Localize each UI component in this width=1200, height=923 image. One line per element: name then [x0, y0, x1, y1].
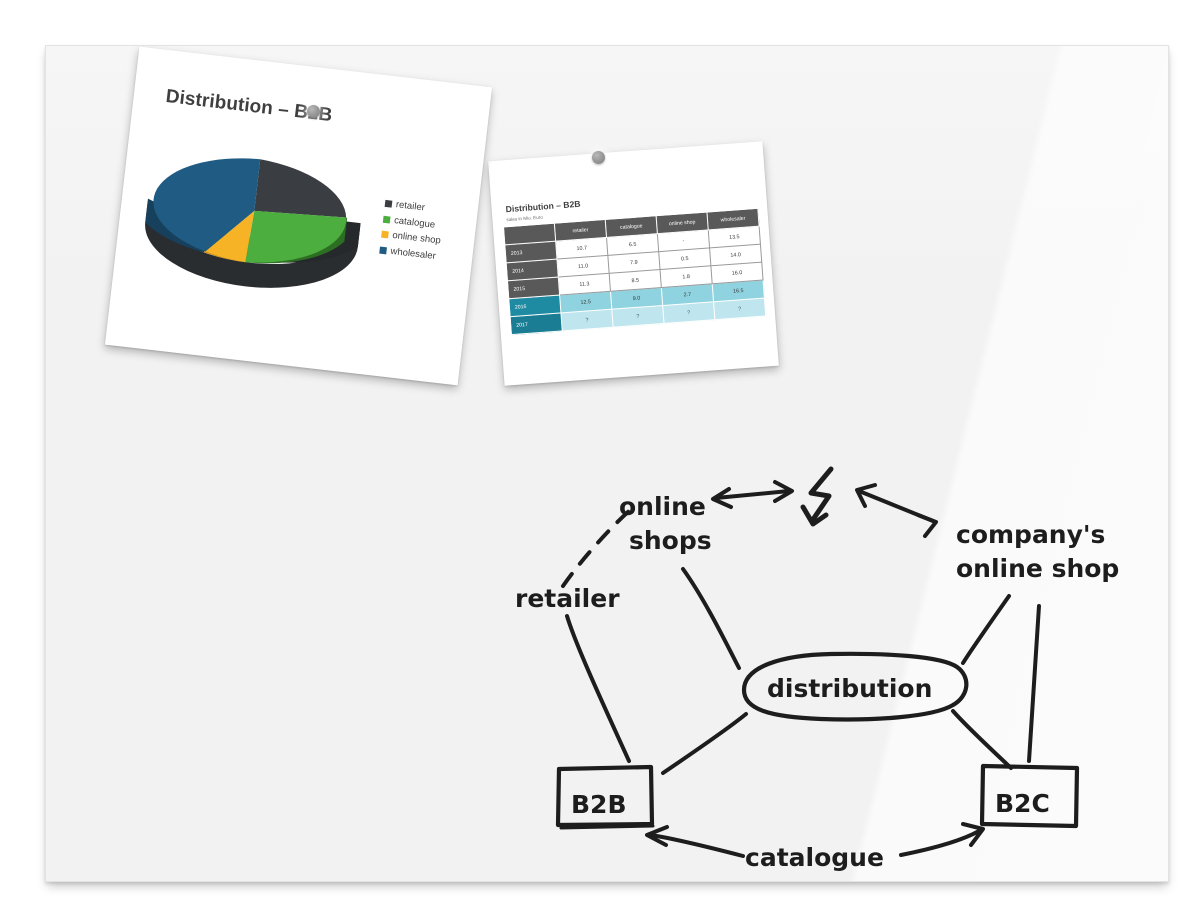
connector-company-shop-b2c: [1029, 606, 1039, 761]
sketch-svg: distribution B2B B2C: [501, 441, 1169, 881]
cell-2017-wholesaler: ?: [714, 298, 766, 320]
node-distribution-label: distribution: [767, 674, 932, 703]
node-distribution[interactable]: distribution: [744, 654, 966, 720]
pie-chart-graphic: [131, 126, 377, 301]
legend-swatch-catalogue: [383, 216, 391, 224]
table-card-title: Distribution – B2B: [505, 199, 580, 214]
table-body: 2013 10.7 6.5 - 13.5 2014 11.0 7.9 0.5 1…: [505, 226, 766, 334]
node-b2c[interactable]: B2C: [982, 766, 1077, 826]
node-b2b[interactable]: B2B: [558, 767, 653, 828]
legend-swatch-wholesaler: [379, 246, 387, 254]
magnet-pie-card[interactable]: [307, 105, 320, 118]
label-company-online-shop-line2: online shop: [956, 554, 1119, 583]
label-catalogue: catalogue: [745, 843, 884, 872]
data-table-card[interactable]: Distribution – B2B sales in Mio. Euro re…: [488, 141, 779, 386]
sales-table: retailer catalogue online shop wholesale…: [503, 208, 766, 335]
label-company-online-shop-line1: company's: [956, 520, 1105, 549]
label-online-shops-line1: online: [619, 492, 706, 521]
connector-distribution-company-shop: [963, 596, 1009, 663]
lightning-bolt-icon: [803, 469, 831, 524]
pie-chart-card[interactable]: Distribution – B2B: [105, 47, 492, 386]
pie-chart-legend: retailer catalogue online shop wholesale…: [379, 196, 445, 264]
cell-2017-retailer: ?: [561, 309, 613, 331]
arrow-catalogue-b2b: [647, 827, 743, 856]
node-b2b-label: B2B: [571, 790, 627, 819]
connector-distribution-b2b: [663, 714, 746, 773]
cell-2017-catalogue: ?: [612, 305, 664, 327]
handdrawn-distribution-diagram: distribution B2B B2C: [501, 441, 1169, 881]
arrow-conflict-company-shop: [857, 485, 936, 536]
legend-swatch-retailer: [385, 200, 393, 208]
arrow-online-shops-conflict: [713, 482, 792, 507]
screenshot-canvas: Distribution – B2B: [0, 0, 1200, 923]
cell-2017-online-shop: ?: [663, 302, 715, 324]
label-online-shops-line2: shops: [629, 526, 712, 555]
connector-distribution-online-shops: [683, 569, 739, 668]
row-label-2017: 2017: [510, 313, 562, 335]
node-b2c-label: B2C: [995, 789, 1050, 818]
arrow-catalogue-b2c: [901, 824, 983, 855]
pie-3d-svg: [131, 126, 377, 301]
label-retailer: retailer: [515, 584, 620, 613]
legend-swatch-online-shop: [381, 231, 389, 239]
table-card-subtitle: sales in Mio. Euro: [506, 215, 543, 223]
connector-distribution-b2c: [953, 711, 1011, 768]
connector-retailer-b2b: [567, 616, 629, 761]
connector-retailer-online-shops-dashed: [563, 511, 629, 586]
whiteboard: Distribution – B2B: [45, 45, 1169, 882]
magnet-table-card[interactable]: [592, 151, 605, 164]
